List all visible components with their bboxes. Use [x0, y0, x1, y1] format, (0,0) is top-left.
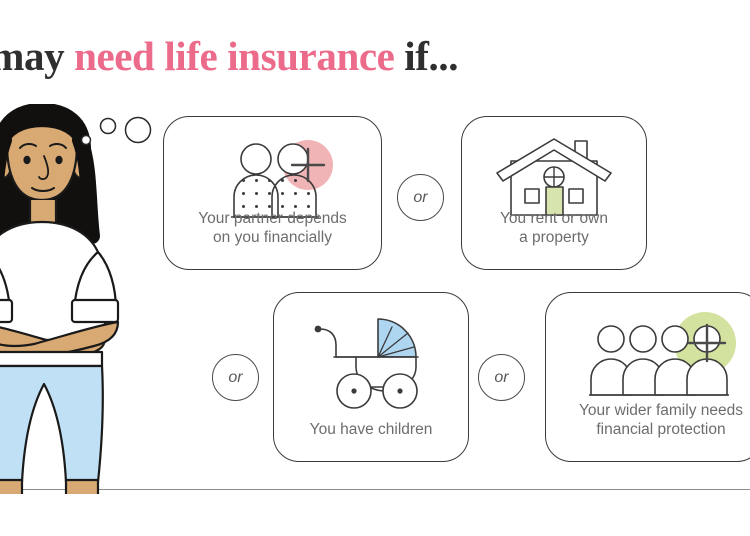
title-lead: u may [0, 33, 74, 79]
or-connector-1: or [397, 174, 444, 221]
window-right [569, 189, 583, 203]
thought-bubbles-svg [78, 110, 158, 150]
thought-bubbles [78, 110, 158, 150]
or-label: or [228, 369, 242, 387]
woman-figure-svg [0, 104, 164, 494]
card-family-label: Your wider family needs financial protec… [546, 401, 750, 439]
card-property-label: You rent or own a property [462, 209, 646, 247]
bubble-medium-icon [101, 119, 116, 134]
bubble-small-icon [82, 136, 91, 145]
page-title: u may need life insurance if... [0, 32, 458, 80]
or-label: or [413, 189, 427, 207]
pram-handle [320, 329, 336, 357]
card-partner[interactable]: Your partner depends on you financially [163, 116, 382, 270]
four-people-plus-icon [546, 311, 750, 397]
or-label: or [494, 369, 508, 387]
or-connector-3: or [478, 354, 525, 401]
card-family[interactable]: Your wider family needs financial protec… [545, 292, 750, 462]
card-property[interactable]: You rent or own a property [461, 116, 647, 270]
card-children[interactable]: You have children [273, 292, 469, 462]
or-connector-2: or [212, 354, 259, 401]
card-partner-label: Your partner depends on you financially [164, 209, 381, 247]
infographic-canvas: u may need life insurance if... [0, 0, 750, 536]
title-accent: need life insurance [74, 33, 394, 79]
pram-icon [274, 311, 468, 397]
title-trail: if... [394, 33, 458, 79]
window-left [525, 189, 539, 203]
card-children-label: You have children [274, 420, 468, 439]
bubble-large-icon [126, 118, 151, 143]
woman-arms-crossed-illustration [0, 104, 164, 494]
